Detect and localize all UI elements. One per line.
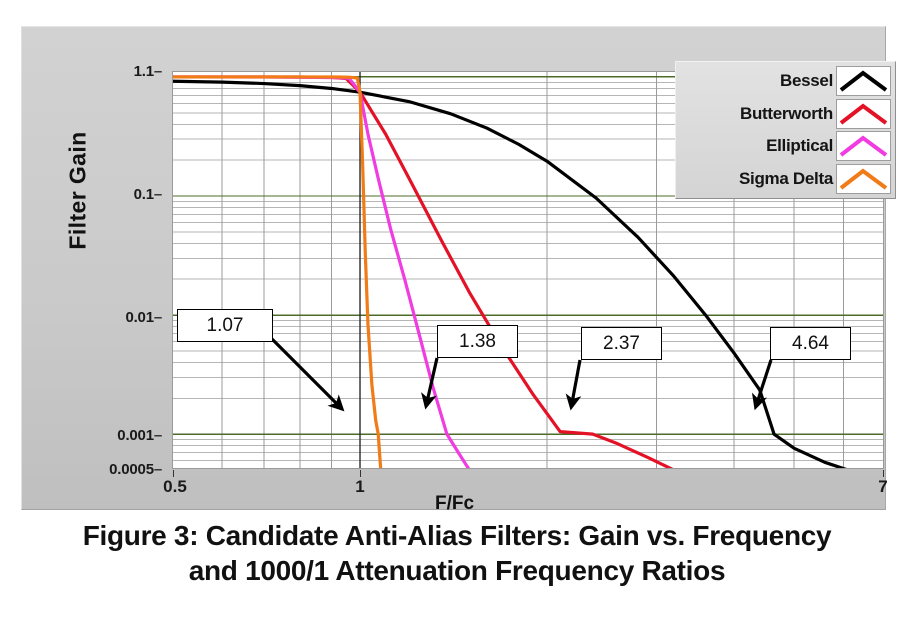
legend-item-sigma-delta[interactable]: Sigma Delta xyxy=(676,163,891,196)
x-tick-mark-max xyxy=(883,470,884,477)
y-tick-label-4: 0.001– xyxy=(70,427,162,444)
graph-panel: Filter Gain 1.1– 0.1– 0.01– 0.001– 0.000… xyxy=(21,26,886,510)
caption-line-1: Figure 3: Candidate Anti-Alias Filters: … xyxy=(0,518,914,553)
figure-container: Filter Gain 1.1– 0.1– 0.01– 0.001– 0.000… xyxy=(0,0,914,624)
annotation-box-1-07[interactable]: 1.07 xyxy=(177,309,273,342)
y-tick-label-1: 1.1– xyxy=(82,63,162,80)
legend-swatch-butterworth[interactable] xyxy=(836,99,891,129)
x-axis-title: F/Fc xyxy=(22,493,887,515)
legend-label-bessel: Bessel xyxy=(780,71,836,91)
legend[interactable]: Bessel Butterworth Elliptical xyxy=(675,61,896,199)
legend-item-elliptical[interactable]: Elliptical xyxy=(676,130,891,163)
x-tick-mark-cursor xyxy=(360,470,361,477)
series-line-sigma-delta xyxy=(173,77,381,469)
legend-swatch-elliptical[interactable] xyxy=(836,131,891,161)
legend-label-sigma-delta: Sigma Delta xyxy=(739,169,836,189)
series-line-elliptical xyxy=(173,77,469,469)
annotation-box-4-64[interactable]: 4.64 xyxy=(770,327,851,360)
x-tick-mark-min xyxy=(173,470,174,477)
legend-label-elliptical: Elliptical xyxy=(766,136,836,156)
annotation-box-2-37[interactable]: 2.37 xyxy=(581,327,662,360)
caption-line-2: and 1000/1 Attenuation Frequency Ratios xyxy=(0,553,914,588)
legend-item-bessel[interactable]: Bessel xyxy=(676,65,891,98)
y-tick-label-3: 0.01– xyxy=(77,309,162,326)
legend-label-butterworth: Butterworth xyxy=(740,104,836,124)
y-tick-label-5: 0.0005– xyxy=(62,461,162,478)
y-tick-label-2: 0.1– xyxy=(82,186,162,203)
legend-swatch-sigma-delta[interactable] xyxy=(836,164,891,194)
annotation-box-1-38[interactable]: 1.38 xyxy=(437,325,518,358)
legend-swatch-bessel[interactable] xyxy=(836,66,891,96)
figure-caption: Figure 3: Candidate Anti-Alias Filters: … xyxy=(0,518,914,588)
series-line-butterworth xyxy=(173,77,674,469)
legend-item-butterworth[interactable]: Butterworth xyxy=(676,98,891,131)
